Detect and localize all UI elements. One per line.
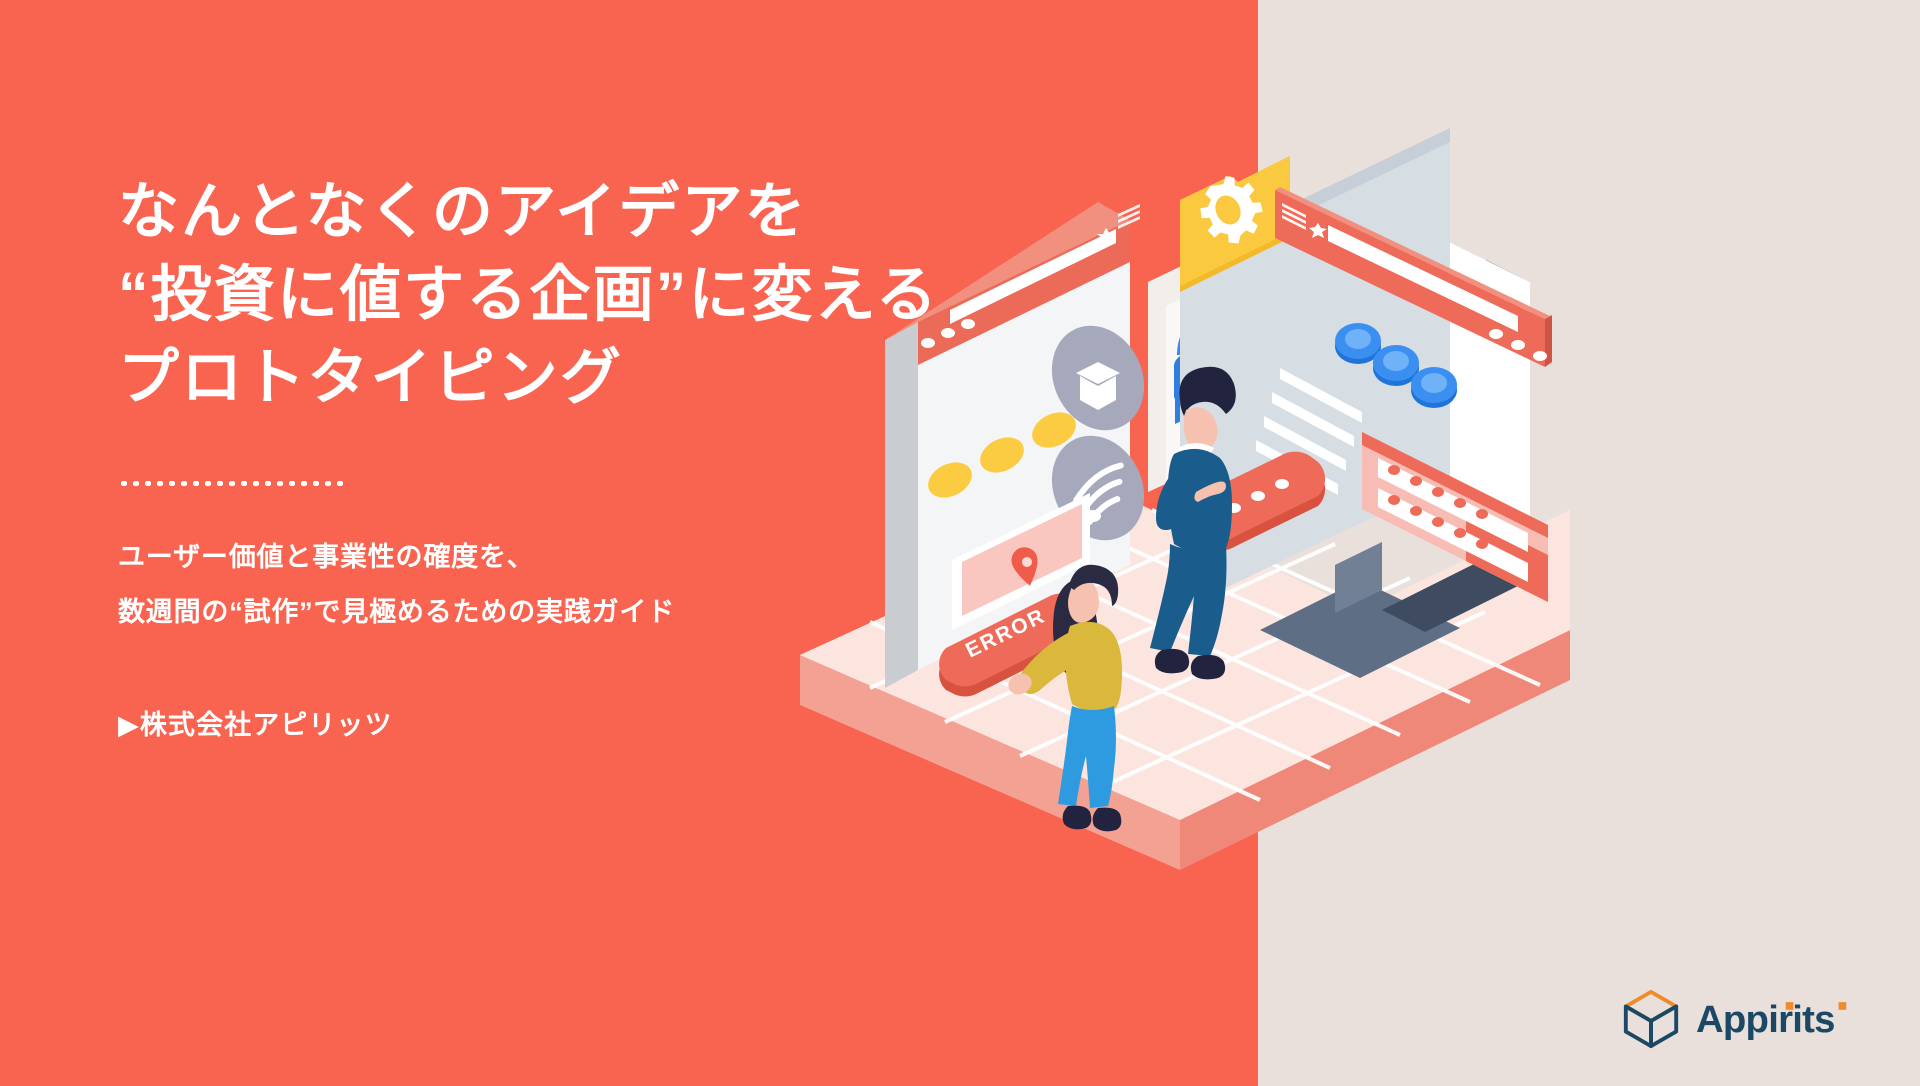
dotted-divider [118, 481, 344, 486]
open-box-cube-icon [1620, 988, 1682, 1050]
appirits-wordmark-text: Appirits [1696, 998, 1835, 1041]
slide-root: なんとなくのアイデアを “投資に値する企画”に変える プロトタイピング ユーザー… [0, 0, 1920, 1086]
appirits-wordmark: Appirits [1696, 996, 1872, 1042]
isometric-illustration: ERROR [930, 110, 1670, 850]
appirits-logo: Appirits [1620, 988, 1872, 1050]
